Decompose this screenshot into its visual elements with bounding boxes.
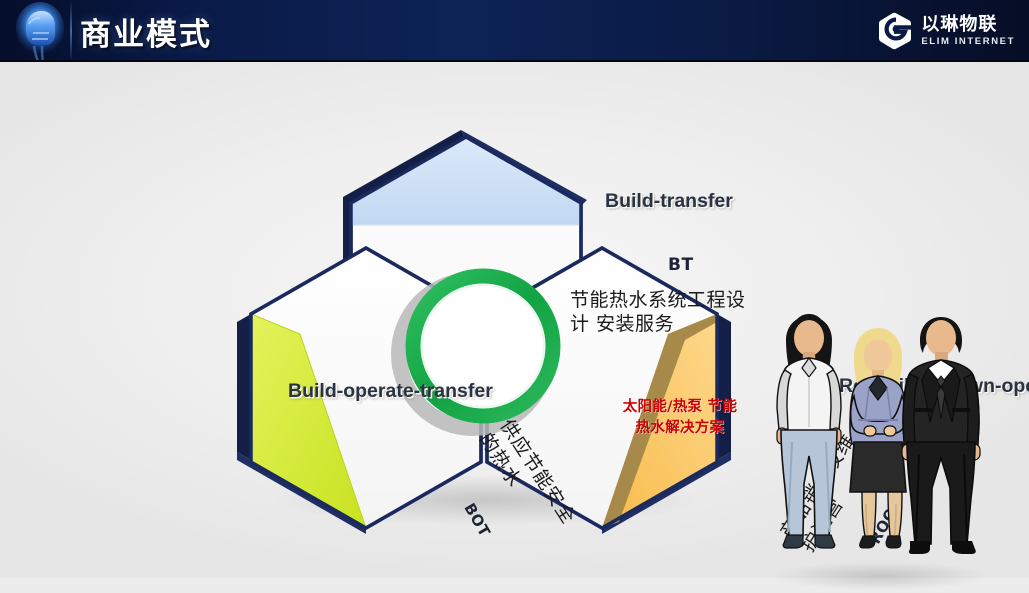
hexagon-bt-label: BT bbox=[668, 255, 694, 275]
person-man-dark-suit bbox=[902, 317, 980, 554]
person-woman-blazer bbox=[850, 328, 906, 548]
person-woman-white-shirt bbox=[777, 314, 841, 548]
header-divider bbox=[70, 0, 72, 62]
brand-name-en: ELIM INTERNET bbox=[921, 37, 1015, 47]
brand-text: 以琳物联 ELIM INTERNET bbox=[921, 16, 1015, 47]
fist-icon bbox=[12, 0, 68, 62]
caption-build-operate-transfer: Build-operate-transfer bbox=[288, 380, 493, 403]
brand-name-cn: 以琳物联 bbox=[921, 16, 1015, 34]
page-header: 商业模式 以琳物联 ELIM INTERNET bbox=[0, 0, 1029, 62]
business-model-diagram: Build-transfer Build-operate-transfer Re… bbox=[215, 82, 755, 552]
slide-body: Build-transfer Build-operate-transfer Re… bbox=[0, 62, 1029, 578]
center-ring-group bbox=[399, 276, 553, 428]
caption-build-transfer: Build-transfer bbox=[605, 190, 733, 213]
hexagon-bot-extrude bbox=[237, 314, 251, 460]
hexagon-bt-body-text: 节能热水系统工程设 计 安装服务 bbox=[570, 289, 785, 337]
brand-logo: 以琳物联 ELIM INTERNET bbox=[879, 11, 1015, 51]
elim-g-logo-icon bbox=[879, 12, 913, 50]
center-solution-label: 太阳能/热泵 节能热水解决方案 bbox=[618, 397, 742, 439]
page-title: 商业模式 bbox=[80, 9, 212, 54]
three-business-people-illustration bbox=[762, 292, 1012, 592]
